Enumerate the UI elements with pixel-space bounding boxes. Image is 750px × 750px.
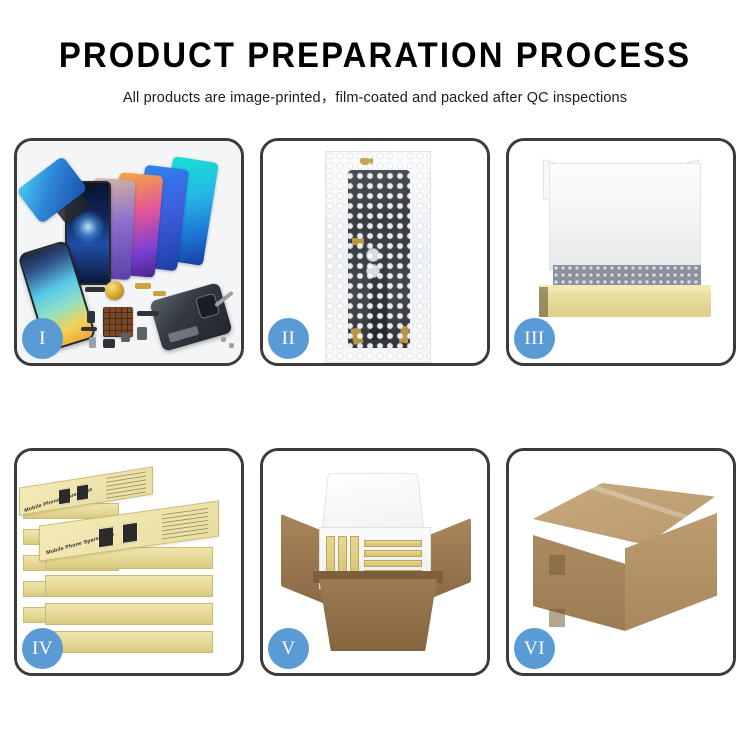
carton-front-face [319,579,437,651]
step-badge-3: III [514,318,555,359]
process-step-panel-2: II [260,138,490,366]
foam-lid-open [322,473,425,531]
spare-part-strip-1 [85,287,105,292]
foam-sheet [549,163,701,271]
vibration-motor-part [105,281,124,300]
bubble-wrap-bag [325,151,431,363]
spare-part-button [89,337,96,348]
step-badge-6: VI [514,628,555,669]
step-badge-5: V [268,628,309,669]
spare-part-screw-2 [229,343,234,348]
lid-text-lines-back [106,471,146,501]
spare-part-module [137,327,147,340]
inner-box-flat-3 [364,560,422,567]
carton-left-face [533,535,625,631]
inner-box-flat-2 [364,550,422,557]
step-badge-1: I [22,318,63,359]
inner-box-flat-1 [364,540,422,547]
spare-part-camera [121,333,130,342]
carton-tape-lower [549,609,565,627]
process-step-panel-1: I [14,138,244,366]
spare-part-cable-1 [81,327,97,331]
spare-part-flex-1 [135,283,151,289]
process-step-grid: I II [14,138,736,676]
stacked-box-fr-4 [45,631,213,653]
process-step-panel-4: Mobile Phone Spare Parts Mobile Phone Sp… [14,448,244,676]
inner-box-side-shadow [539,287,548,317]
step-badge-2: II [268,318,309,359]
bubble-texture [326,152,430,362]
lid-text-lines-front [162,508,208,540]
product-preparation-infographic: PRODUCT PREPARATION PROCESS All products… [0,0,750,750]
lid-thumbnail-front-2 [122,522,138,544]
spare-part-speaker [103,339,115,348]
inner-box-front [539,291,711,317]
stacked-box-fr-3 [45,603,213,625]
page-subtitle: All products are image-printed，film-coat… [0,86,750,107]
spare-part-flex-2 [153,291,166,296]
stacked-box-fr-2 [45,575,213,597]
process-step-panel-3: III [506,138,736,366]
spare-part-connector-1 [87,311,95,323]
step-badge-4: IV [22,628,63,669]
process-step-panel-6: VI [506,448,736,676]
header: PRODUCT PREPARATION PROCESS All products… [0,38,750,107]
process-step-panel-5: V [260,448,490,676]
page-title: PRODUCT PREPARATION PROCESS [23,38,728,75]
spare-part-screw-1 [221,337,226,342]
spare-part-flex-3 [137,311,159,316]
carton-tape-upper [549,555,565,575]
